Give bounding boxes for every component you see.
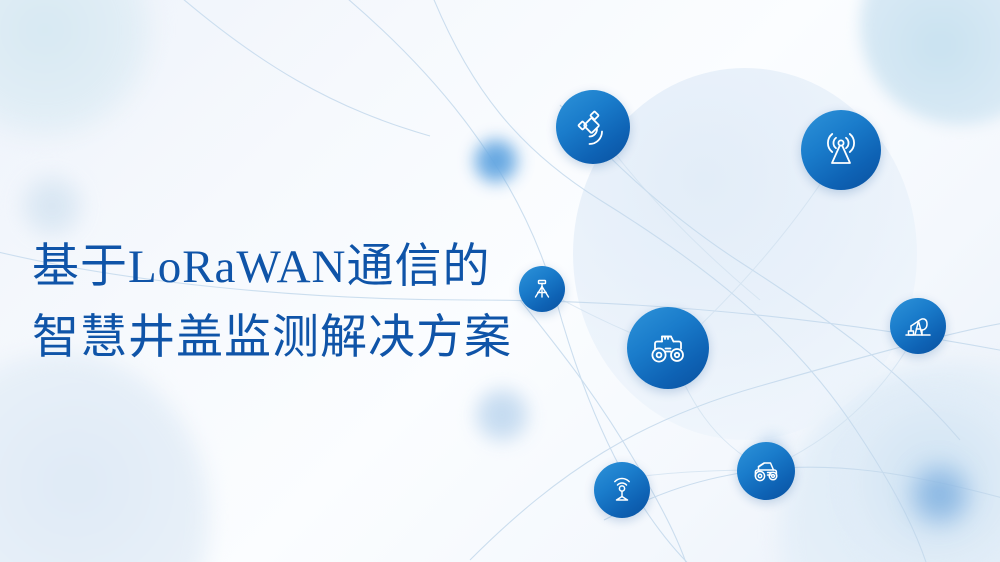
satellite-icon	[573, 107, 613, 147]
background-blob-bottom-left	[0, 352, 210, 562]
radio-tower-node[interactable]	[801, 110, 881, 190]
presentation-slide: 基于LoRaWAN通信的 智慧井盖监测解决方案	[0, 0, 1000, 562]
tractor-icon	[644, 324, 692, 372]
background-dot-corner-right	[905, 455, 975, 535]
harvester-icon	[749, 454, 783, 488]
sensor-node[interactable]	[594, 462, 650, 518]
slide-title: 基于LoRaWAN通信的 智慧井盖监测解决方案	[32, 232, 592, 374]
background-blob-top-right	[860, 0, 1000, 125]
satellite-node[interactable]	[556, 90, 630, 164]
radio-tower-icon	[819, 128, 863, 172]
title-line-2: 智慧井盖监测解决方案	[32, 303, 592, 374]
background-dot-upper-center	[468, 133, 524, 189]
harvester-node[interactable]	[737, 442, 795, 500]
background-blob-corner	[840, 392, 1000, 562]
background-dot-lower-center	[470, 383, 534, 447]
oil-pumpjack-node[interactable]	[890, 298, 946, 354]
oil-pumpjack-icon	[902, 310, 934, 342]
background-blob-bottom-right	[780, 362, 1000, 562]
tractor-node[interactable]	[627, 307, 709, 389]
title-line-1: 基于LoRaWAN通信的	[32, 232, 592, 303]
sensor-node-icon	[606, 474, 638, 506]
background-blob-top-left	[0, 0, 160, 145]
